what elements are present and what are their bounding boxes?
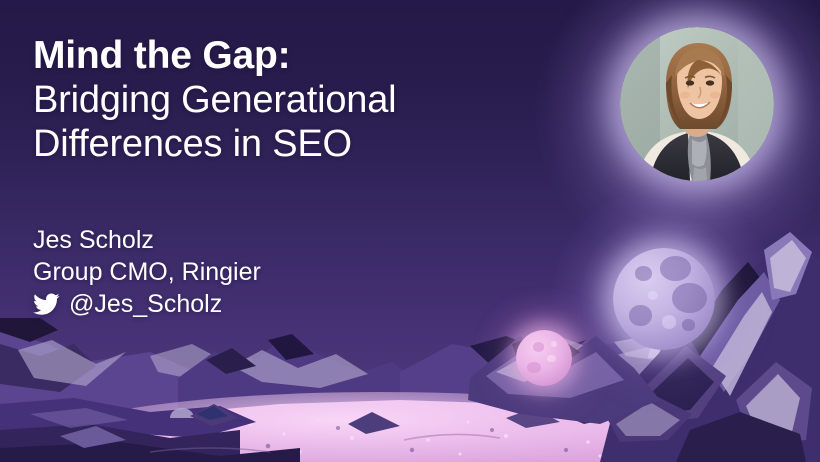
pink-moon — [516, 330, 572, 386]
moon-crater — [648, 291, 658, 300]
speaker-role: Group CMO, Ringier — [33, 256, 261, 288]
speaker-info: Jes Scholz Group CMO, Ringier @Jes_Schol… — [33, 224, 261, 320]
title-line-2: Bridging Generational — [33, 78, 578, 122]
moon-crater — [527, 362, 540, 373]
moon-crater — [533, 342, 544, 352]
moon-crater — [682, 319, 694, 330]
moon-crater — [547, 355, 556, 363]
slide-title: Mind the Gap: Bridging Generational Diff… — [33, 34, 578, 166]
title-line-3: Differences in SEO — [33, 122, 578, 166]
moon-crater — [629, 305, 651, 325]
moon-crater — [635, 266, 651, 280]
speaker-name: Jes Scholz — [33, 224, 261, 256]
twitter-handle-text: @Jes_Scholz — [69, 288, 222, 320]
moon-crater — [662, 315, 676, 328]
speaker-avatar-photo — [620, 27, 774, 181]
moon-crater — [551, 341, 558, 347]
twitter-bird-icon — [33, 293, 60, 316]
presentation-slide: Mind the Gap: Bridging Generational Diff… — [0, 0, 820, 462]
purple-moon — [613, 248, 715, 350]
twitter-handle-row[interactable]: @Jes_Scholz — [33, 288, 261, 320]
title-line-1: Mind the Gap: — [33, 34, 578, 78]
moon-crater — [672, 283, 707, 314]
moon-crater — [660, 256, 691, 280]
